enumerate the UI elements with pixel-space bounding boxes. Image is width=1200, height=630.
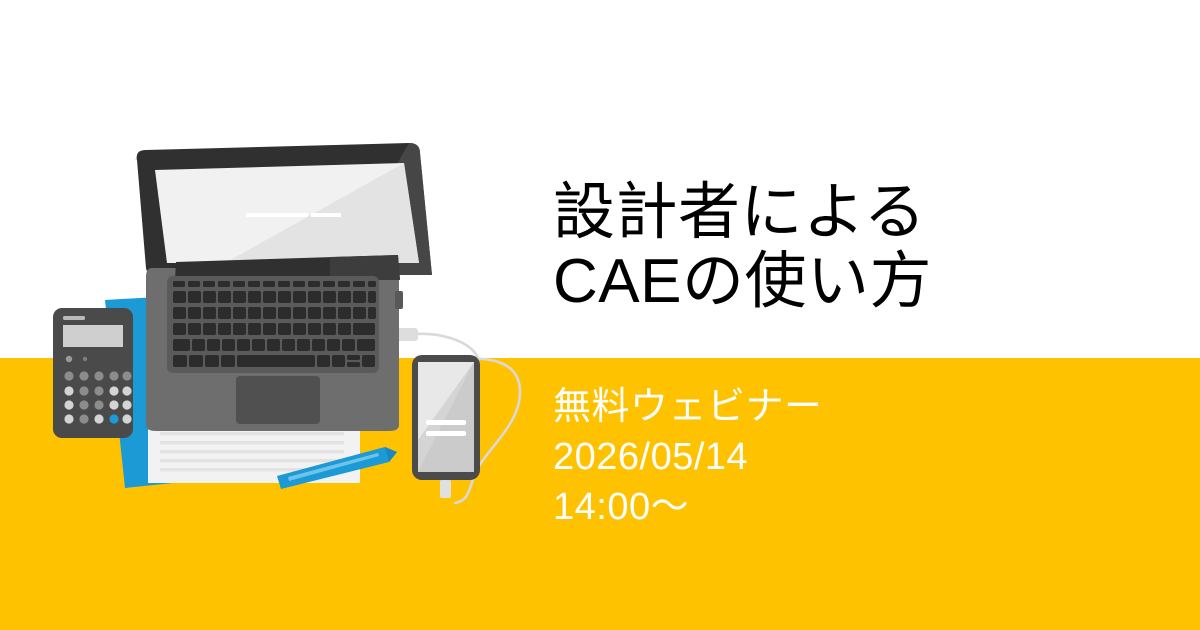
headline-line-2: CAEの使い方	[553, 247, 1153, 316]
laptop-palmrest	[146, 373, 399, 431]
smartphone-icon	[412, 355, 480, 498]
subtitle-line-2: 2026/05/14	[553, 432, 823, 482]
phone-charger-plug-icon	[440, 480, 451, 498]
subtitle-line-3: 14:00〜	[553, 482, 823, 532]
headline-line-1: 設計者による	[553, 178, 1153, 247]
webinar-banner: 設計者による CAEの使い方 無料ウェビナー 2026/05/14 14:00〜	[0, 0, 1200, 630]
subtitle-line-1: 無料ウェビナー	[553, 382, 823, 432]
headline-block: 設計者による CAEの使い方	[553, 178, 1153, 317]
subtitle-block: 無料ウェビナー 2026/05/14 14:00〜	[553, 382, 823, 532]
calculator-icon	[53, 308, 133, 438]
usb-port-icon	[395, 291, 403, 309]
